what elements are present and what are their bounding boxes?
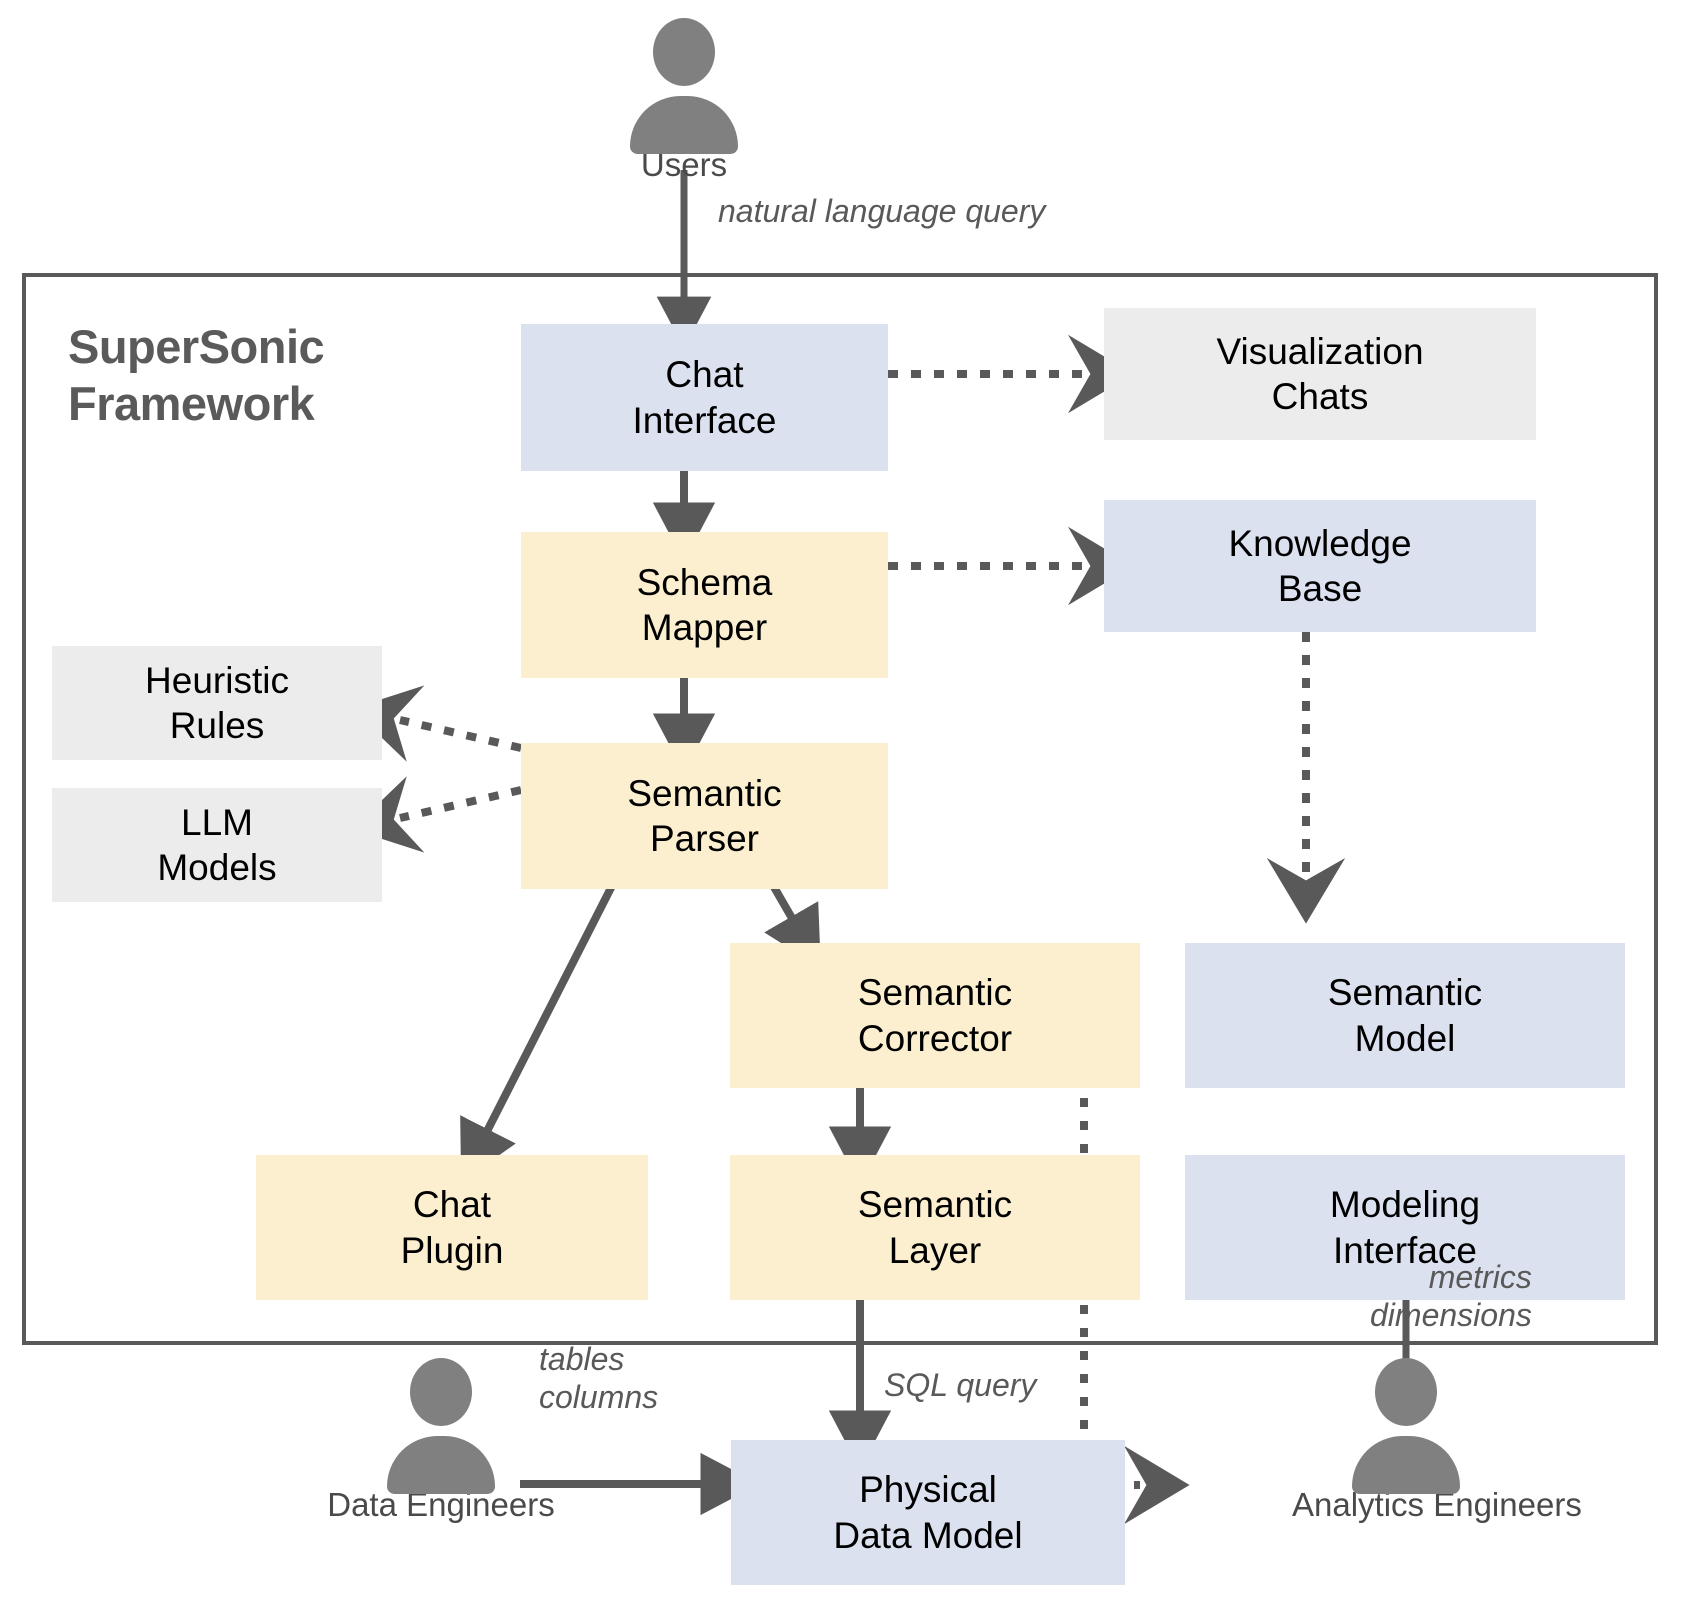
- node-chat-plugin-line1: Chat: [401, 1182, 504, 1227]
- actor-users: Users: [608, 18, 760, 184]
- edge-label-metrics-line1: metrics: [1429, 1259, 1532, 1295]
- edge-label-sql-query: SQL query: [884, 1366, 1036, 1404]
- node-semantic-model-line1: Semantic: [1328, 970, 1482, 1015]
- actor-data-engineers: Data Engineers: [327, 1358, 555, 1524]
- node-chat-plugin[interactable]: Chat Plugin: [256, 1155, 648, 1300]
- node-schema-mapper-line1: Schema: [637, 560, 773, 605]
- node-chat-interface[interactable]: Chat Interface: [521, 324, 888, 471]
- edge-label-tables: tables columns: [539, 1340, 658, 1417]
- node-chat-plugin-line2: Plugin: [401, 1228, 504, 1273]
- node-semantic-model[interactable]: Semantic Model: [1185, 943, 1625, 1088]
- person-head: [410, 1358, 472, 1426]
- edge-label-tables-line1: tables: [539, 1341, 624, 1377]
- framework-title-line2: Framework: [68, 377, 314, 430]
- node-heuristic-rules[interactable]: Heuristic Rules: [52, 646, 382, 760]
- node-semantic-model-line2: Model: [1328, 1016, 1482, 1061]
- node-chat-interface-line2: Interface: [633, 398, 777, 443]
- person-icon: [608, 18, 760, 138]
- node-llm-models-line2: Models: [157, 845, 276, 890]
- node-llm-models[interactable]: LLM Models: [52, 788, 382, 902]
- node-physical-data-model-line2: Data Model: [833, 1513, 1022, 1558]
- node-semantic-layer-line1: Semantic: [858, 1182, 1012, 1227]
- person-body: [387, 1436, 495, 1494]
- node-semantic-parser[interactable]: Semantic Parser: [521, 743, 888, 889]
- node-visualization-chats-line2: Chats: [1216, 374, 1423, 419]
- node-knowledge-base-line2: Base: [1228, 566, 1411, 611]
- person-body: [630, 96, 738, 154]
- node-schema-mapper[interactable]: Schema Mapper: [521, 532, 888, 678]
- person-head: [653, 18, 715, 86]
- node-physical-data-model-line1: Physical: [833, 1467, 1022, 1512]
- node-visualization-chats[interactable]: Visualization Chats: [1104, 308, 1536, 440]
- node-semantic-corrector-line2: Corrector: [858, 1016, 1012, 1061]
- edge-label-metrics: metrics dimensions: [1370, 1258, 1532, 1335]
- person-body: [1352, 1436, 1460, 1494]
- node-knowledge-base[interactable]: Knowledge Base: [1104, 500, 1536, 632]
- node-semantic-corrector-line1: Semantic: [858, 970, 1012, 1015]
- node-semantic-parser-line2: Parser: [627, 816, 781, 861]
- node-semantic-layer[interactable]: Semantic Layer: [730, 1155, 1140, 1300]
- framework-title-line1: SuperSonic: [68, 320, 324, 373]
- node-llm-models-line1: LLM: [157, 800, 276, 845]
- node-physical-data-model[interactable]: Physical Data Model: [731, 1440, 1125, 1585]
- node-heuristic-rules-line2: Rules: [145, 703, 289, 748]
- node-schema-mapper-line2: Mapper: [637, 605, 773, 650]
- person-head: [1375, 1358, 1437, 1426]
- node-chat-interface-line1: Chat: [633, 352, 777, 397]
- node-visualization-chats-line1: Visualization: [1216, 329, 1423, 374]
- edge-label-dimensions-line2: dimensions: [1370, 1297, 1532, 1333]
- edge-label-natural-language-query: natural language query: [718, 192, 1045, 230]
- node-semantic-corrector[interactable]: Semantic Corrector: [730, 943, 1140, 1088]
- node-heuristic-rules-line1: Heuristic: [145, 658, 289, 703]
- actor-analytics-engineers: Analytics Engineers: [1292, 1358, 1520, 1524]
- node-knowledge-base-line1: Knowledge: [1228, 521, 1411, 566]
- node-semantic-layer-line2: Layer: [858, 1228, 1012, 1273]
- node-semantic-parser-line1: Semantic: [627, 771, 781, 816]
- framework-title: SuperSonic Framework: [68, 318, 448, 433]
- person-icon: [327, 1358, 555, 1478]
- architecture-diagram: SuperSonic Framework Users Data Engineer…: [0, 0, 1686, 1614]
- edge-label-columns-line2: columns: [539, 1379, 658, 1415]
- person-icon: [1292, 1358, 1520, 1478]
- node-modeling-interface-line1: Modeling: [1330, 1182, 1480, 1227]
